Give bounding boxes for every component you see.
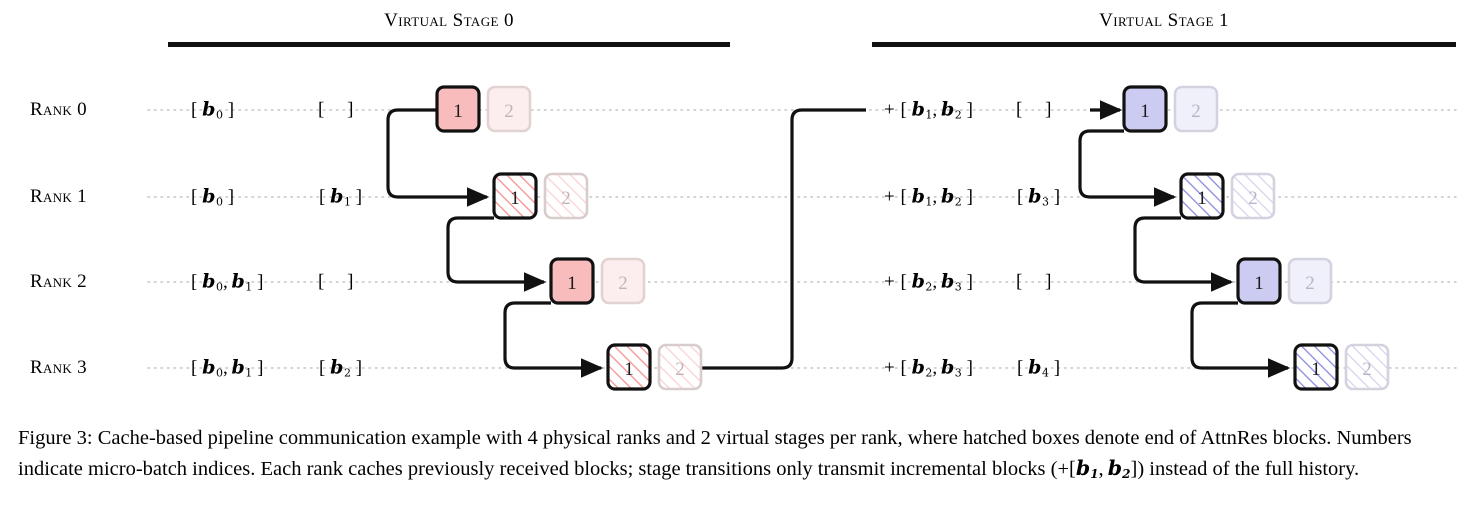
stage1-cache-rank2: + [ b2, b3 ] <box>884 271 974 294</box>
box-label-stage0-rank2-active: 1 <box>567 273 577 294</box>
stage1-incoming-rank2: [ ] <box>1016 271 1060 293</box>
box-label-stage0-rank3-pending: 2 <box>675 359 685 380</box>
rank-label-1: Rank 1 <box>30 186 87 208</box>
box-label-stage1-rank3-active: 1 <box>1311 359 1321 380</box>
stage-1-arrows <box>1080 131 1288 368</box>
stage0-incoming-rank1: [ b1 ] <box>318 186 363 209</box>
figure-3: Virtual Stage 0 Virtual Stage 1 <box>0 0 1460 532</box>
rank-label-2: Rank 2 <box>30 271 87 293</box>
stage1-incoming-rank3: [ b4 ] <box>1016 357 1061 380</box>
box-label-stage1-rank3-pending: 2 <box>1362 359 1372 380</box>
stage0-incoming-rank2: [ ] <box>318 271 362 293</box>
stage-0-boxes: 1 2 1 2 1 2 1 2 <box>437 87 701 389</box>
box-label-stage1-rank2-active: 1 <box>1254 273 1264 294</box>
box-label-stage1-rank2-pending: 2 <box>1305 273 1315 294</box>
stage1-cache-rank3: + [ b2, b3 ] <box>884 357 974 380</box>
box-label-stage1-rank1-pending: 2 <box>1248 188 1258 209</box>
stage0-cache-rank2: [ b0, b1 ] <box>190 271 264 294</box>
stage1-cache-rank1: + [ b1, b2 ] <box>884 186 974 209</box>
stage1-incoming-rank0: [ ] <box>1016 99 1060 121</box>
stage0-cache-rank3: [ b0, b1 ] <box>190 357 264 380</box>
box-label-stage1-rank1-active: 1 <box>1197 188 1207 209</box>
stage-0-arrows <box>388 110 601 368</box>
stage0-cache-rank1: [ b0 ] <box>190 186 235 209</box>
stage0-incoming-rank3: [ b2 ] <box>318 357 363 380</box>
box-label-stage0-rank0-active: 1 <box>453 101 463 122</box>
row-guidelines <box>148 110 1456 368</box>
stage1-cache-rank0: + [ b1, b2 ] <box>884 99 974 122</box>
box-label-stage0-rank1-active: 1 <box>510 188 520 209</box>
stage-1-boxes: 1 2 1 2 1 2 1 2 <box>1124 87 1388 389</box>
figure-caption: Figure 3: Cache-based pipeline communica… <box>18 423 1446 486</box>
stage0-incoming-rank0: [ ] <box>318 99 362 121</box>
box-label-stage0-rank3-active: 1 <box>624 359 634 380</box>
box-label-stage1-rank0-pending: 2 <box>1191 101 1201 122</box>
box-label-stage0-rank2-pending: 2 <box>618 273 628 294</box>
box-label-stage0-rank1-pending: 2 <box>561 188 571 209</box>
rank-label-0: Rank 0 <box>30 99 87 121</box>
caption-text-part2: ) instead of the full history. <box>1137 458 1359 480</box>
box-label-stage0-rank0-pending: 2 <box>504 101 514 122</box>
box-label-stage1-rank0-active: 1 <box>1140 101 1150 122</box>
rank-label-3: Rank 3 <box>30 357 87 379</box>
stage1-incoming-rank1: [ b3 ] <box>1016 186 1061 209</box>
stage-transition-connector <box>700 110 866 368</box>
stage0-cache-rank0: [ b0 ] <box>190 99 235 122</box>
